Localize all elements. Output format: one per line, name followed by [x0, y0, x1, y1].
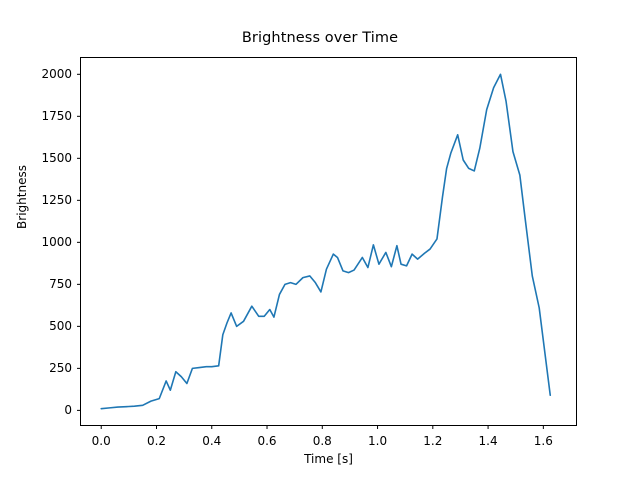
x-tick-label: 0.8	[313, 434, 332, 448]
y-tick-label: 1000	[20, 235, 72, 249]
x-tick-label: 0.4	[202, 434, 221, 448]
x-tick-label: 0.2	[147, 434, 166, 448]
x-tick-label: 0.6	[257, 434, 276, 448]
y-tick-label: 500	[20, 319, 72, 333]
y-tick-label: 1750	[20, 109, 72, 123]
x-tick-label: 1.6	[534, 434, 553, 448]
y-tick-label: 0	[20, 403, 72, 417]
y-tick-label: 750	[20, 277, 72, 291]
y-tick-label: 250	[20, 361, 72, 375]
y-tick-label: 1250	[20, 193, 72, 207]
y-tick-label: 1500	[20, 151, 72, 165]
x-tick-label: 1.4	[479, 434, 498, 448]
chart-figure: Brightness over Time Brightness Time [s]…	[0, 0, 640, 480]
x-tick-label: 0.0	[92, 434, 111, 448]
plot-area	[0, 0, 640, 480]
x-tick-label: 1.2	[423, 434, 442, 448]
x-tick-label: 1.0	[368, 434, 387, 448]
axes-frame	[81, 58, 577, 426]
y-tick-label: 2000	[20, 67, 72, 81]
